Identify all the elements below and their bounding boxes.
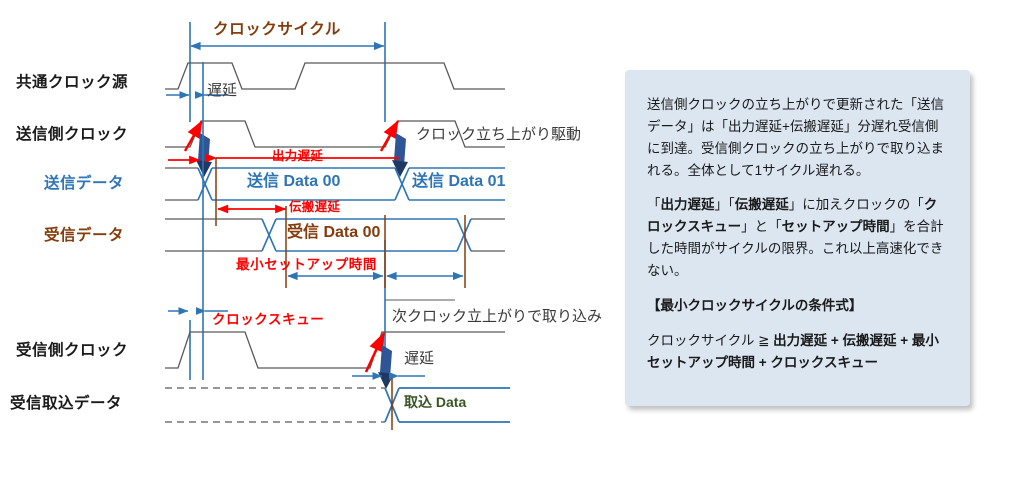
- timing-diagram: 共通クロック源 送信側クロック 送信データ 受信データ 受信側クロック 受信取込…: [0, 0, 620, 477]
- drive-arrow-2: [392, 133, 408, 177]
- screenshot-root: 共通クロック源 送信側クロック 送信データ 受信データ 受信側クロック 受信取込…: [0, 0, 1024, 477]
- annotation-clock-rise-drive: クロック立ち上がり駆動: [416, 127, 581, 142]
- explanation-note-panel: 送信側クロックの立ち上がりで更新された「送信データ」は「出力遅延+伝搬遅延」分遅…: [625, 70, 970, 406]
- row-label-rx-data: 受信データ: [44, 228, 124, 244]
- annotation-delay-top: 遅延: [207, 83, 237, 98]
- waveform-rx-clock: [165, 332, 505, 389]
- row-label-tx-clock: 送信側クロック: [16, 127, 128, 143]
- row-label-common-clock-source: 共通クロック源: [16, 75, 128, 91]
- annotation-next-clock-capture: 次クロック立上がりで取り込み: [392, 309, 602, 324]
- annotation-clock-skew: クロックスキュー: [212, 313, 324, 327]
- bus-value-tx-data-0: 送信 Data 00: [247, 174, 340, 190]
- row-label-rx-captured-data: 受信取込データ: [10, 396, 122, 412]
- note-heading-condition: 【最小クロックサイクルの条件式】: [647, 295, 948, 317]
- annotation-min-setup-time: 最小セットアップ時間: [236, 258, 377, 272]
- note-formula: クロックサイクル ≧ 出力遅延 + 伝搬遅延 + 最小セットアップ時間 + クロ…: [647, 330, 948, 374]
- annotation-delay-bottom: 遅延: [404, 351, 434, 366]
- bus-value-captured-data: 取込 Data: [404, 395, 466, 409]
- annotation-output-delay: 出力遅延: [272, 150, 323, 163]
- annotation-clock-cycle: クロックサイクル: [213, 22, 341, 38]
- row-label-tx-data: 送信データ: [44, 176, 124, 192]
- annotation-propagation-delay: 伝搬遅延: [289, 201, 340, 214]
- row-label-rx-clock: 受信側クロック: [16, 343, 128, 359]
- note-paragraph-2: 「出力遅延」「伝搬遅延」に加えクロックの「クロックスキュー」と「セットアップ時間…: [647, 194, 948, 281]
- bus-value-tx-data-1: 送信 Data 01: [412, 174, 505, 190]
- bus-value-rx-data-0: 受信 Data 00: [287, 225, 380, 241]
- note-paragraph-1: 送信側クロックの立ち上がりで更新された「送信データ」は「出力遅延+伝搬遅延」分遅…: [647, 94, 948, 181]
